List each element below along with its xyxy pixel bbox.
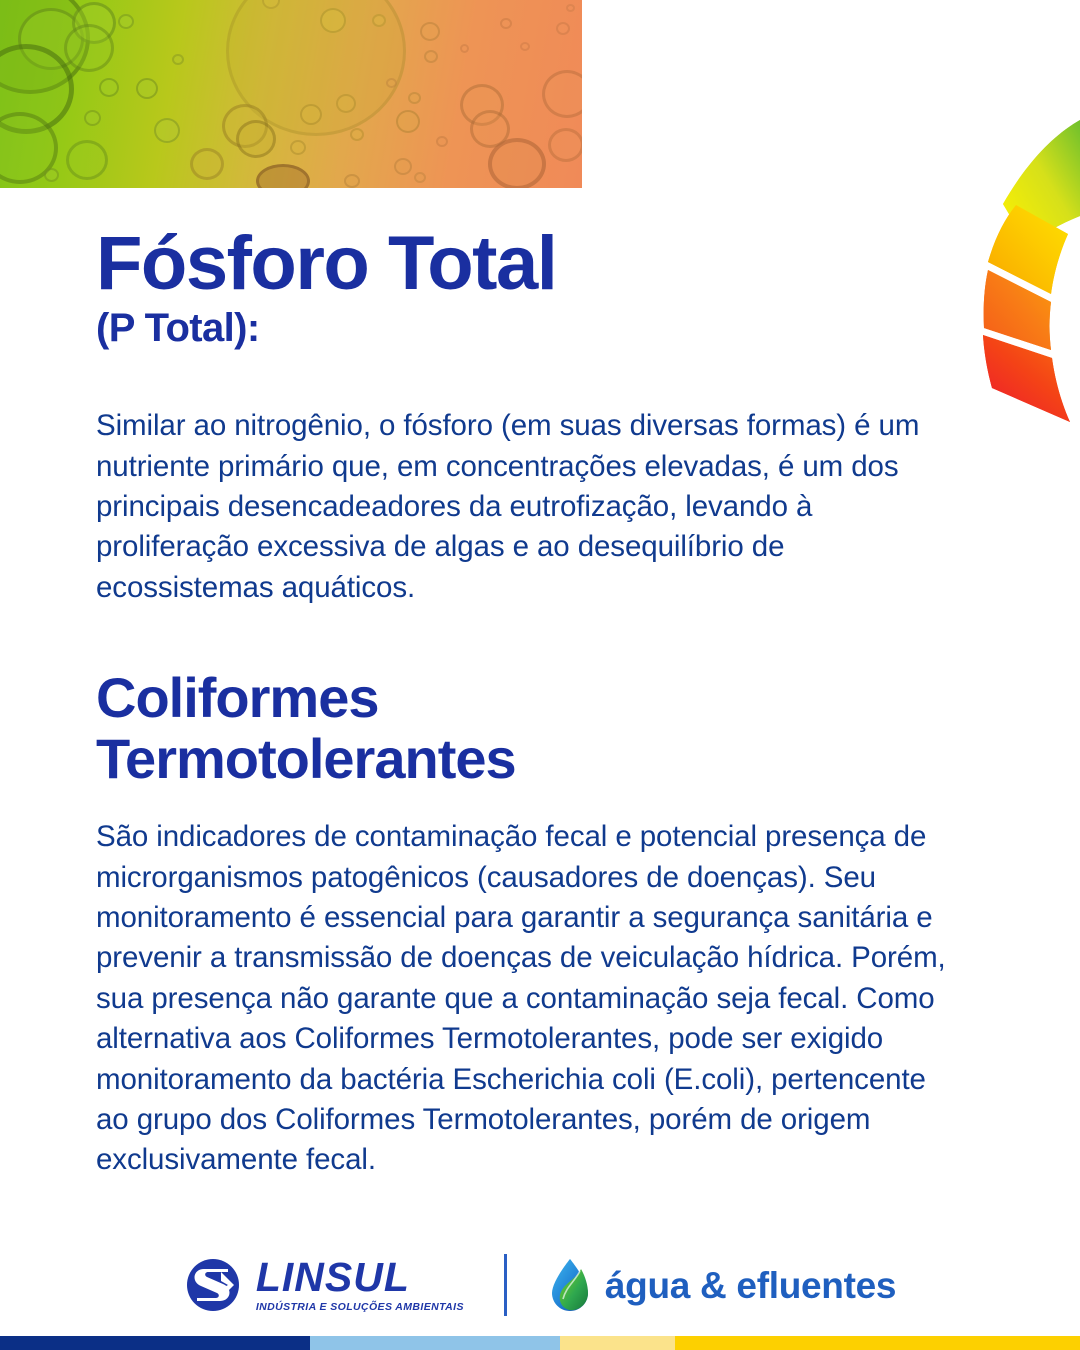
header-bubbles-image	[0, 0, 582, 188]
segment-dark-blue	[0, 1336, 310, 1350]
footer-logos: LINSUL INDÚSTRIA E SOLUÇÕES AMBIENTAIS	[0, 1254, 1080, 1316]
bottom-color-bar	[0, 1336, 1080, 1350]
agua-word-primary: água	[605, 1265, 690, 1306]
page-subtitle: (P Total):	[96, 306, 966, 350]
agua-efluentes-logo[interactable]: água & efluentes	[547, 1257, 896, 1313]
section-title-coliformes: Coliformes Termotolerantes	[96, 668, 736, 789]
page-title: Fósforo Total	[96, 228, 966, 300]
segment-pale-yellow	[560, 1336, 675, 1350]
content-column: Fósforo Total (P Total): Similar ao nitr…	[96, 228, 966, 1181]
linsul-mark-icon	[184, 1256, 244, 1314]
segment-golden-yellow	[675, 1336, 1080, 1350]
gradient-arc-icon	[960, 112, 1080, 502]
paragraph-fosforo-total: Similar ao nitrogênio, o fósforo (em sua…	[96, 406, 956, 608]
agua-word-amp: &	[700, 1265, 726, 1306]
linsul-wordmark: LINSUL	[256, 1257, 464, 1298]
linsul-tagline: INDÚSTRIA E SOLUÇÕES AMBIENTAIS	[256, 1302, 464, 1313]
footer-divider	[504, 1254, 507, 1316]
water-droplet-leaf-icon	[547, 1257, 593, 1313]
poster-canvas: Fósforo Total (P Total): Similar ao nitr…	[0, 0, 1080, 1350]
agua-wordmark: água & efluentes	[605, 1267, 896, 1304]
segment-light-blue	[310, 1336, 560, 1350]
paragraph-coliformes: São indicadores de contaminação fecal e …	[96, 817, 956, 1181]
linsul-logo[interactable]: LINSUL INDÚSTRIA E SOLUÇÕES AMBIENTAIS	[184, 1256, 464, 1314]
agua-word-secondary: efluentes	[736, 1265, 896, 1306]
